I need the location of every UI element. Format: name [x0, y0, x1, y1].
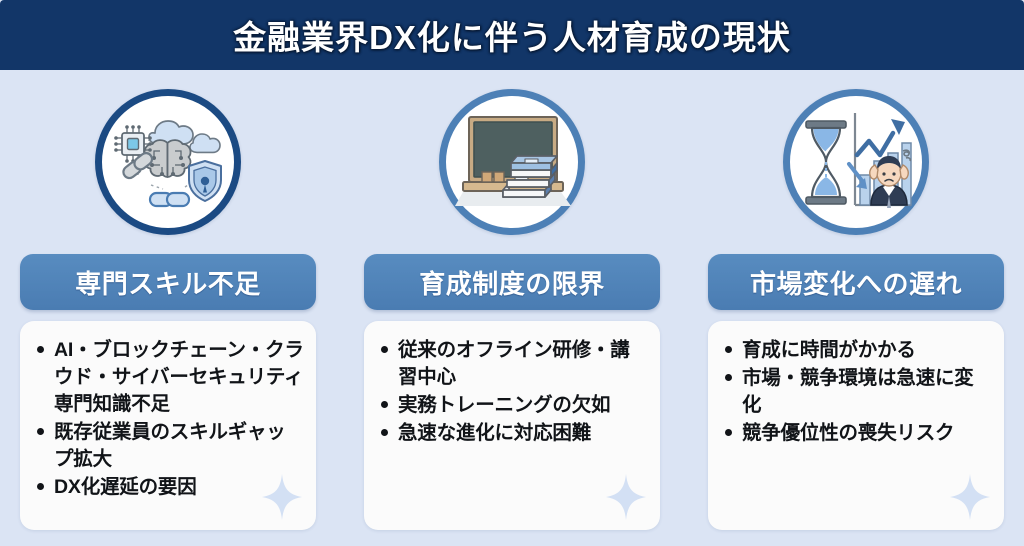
bullet-list: 育成に時間がかかる 市場・競争環境は急速に変化 競争優位性の喪失リスク: [708, 321, 1004, 447]
bullet-list: AI・ブロックチェーン・クラウド・サイバーセキュリティ専門知識不足 既存従業員の…: [20, 321, 316, 500]
bullet-list: 従来のオフライン研修・講習中心 実務トレーニングの欠如 急速な進化に対応困難: [364, 321, 660, 447]
column-heading-text: 育成制度の限界: [419, 264, 605, 301]
page-title: 金融業界DX化に伴う人材育成の現状: [233, 11, 791, 59]
column-card: AI・ブロックチェーン・クラウド・サイバーセキュリティ専門知識不足 既存従業員の…: [20, 321, 316, 530]
column-heading-pill: 育成制度の限界: [364, 254, 660, 310]
sparkle-icon: [950, 474, 990, 520]
slide-header: 金融業界DX化に伴う人材育成の現状: [0, 0, 1024, 70]
slide-root: 金融業界DX化に伴う人材育成の現状: [0, 0, 1024, 546]
column-heading-text: 市場変化への遅れ: [750, 264, 962, 301]
list-item: 市場・競争環境は急速に変化: [722, 365, 992, 419]
chalkboard-books-icon: [439, 89, 585, 235]
list-item: DX化遅延の要因: [34, 474, 304, 501]
sparkle-icon: [606, 474, 646, 520]
list-item: AI・ブロックチェーン・クラウド・サイバーセキュリティ専門知識不足: [34, 337, 304, 418]
column-heading-text: 専門スキル不足: [75, 264, 261, 301]
column-market-change-lag: 市場変化への遅れ 育成に時間がかかる 市場・競争環境は急速に変化 競争優位性の喪…: [708, 70, 1004, 546]
list-item: 育成に時間がかかる: [722, 337, 992, 364]
list-item: 実務トレーニングの欠如: [378, 392, 648, 419]
column-skill-shortage: 専門スキル不足 AI・ブロックチェーン・クラウド・サイバーセキュリティ専門知識不…: [20, 70, 316, 546]
columns-container: 専門スキル不足 AI・ブロックチェーン・クラウド・サイバーセキュリティ専門知識不…: [0, 70, 1024, 546]
column-card: 育成に時間がかかる 市場・競争環境は急速に変化 競争優位性の喪失リスク: [708, 321, 1004, 530]
list-item: 競争優位性の喪失リスク: [722, 420, 992, 447]
hourglass-growth-chart-stressed-businessman-icon: [783, 89, 929, 235]
list-item: 急速な進化に対応困難: [378, 420, 648, 447]
column-heading-pill: 市場変化への遅れ: [708, 254, 1004, 310]
column-training-system-limits: 育成制度の限界 従来のオフライン研修・講習中心 実務トレーニングの欠如 急速な進…: [364, 70, 660, 546]
ai-brain-blockchain-security-icon: [95, 89, 241, 235]
column-card: 従来のオフライン研修・講習中心 実務トレーニングの欠如 急速な進化に対応困難: [364, 321, 660, 530]
list-item: 従来のオフライン研修・講習中心: [378, 337, 648, 391]
column-heading-pill: 専門スキル不足: [20, 254, 316, 310]
list-item: 既存従業員のスキルギャップ拡大: [34, 419, 304, 473]
